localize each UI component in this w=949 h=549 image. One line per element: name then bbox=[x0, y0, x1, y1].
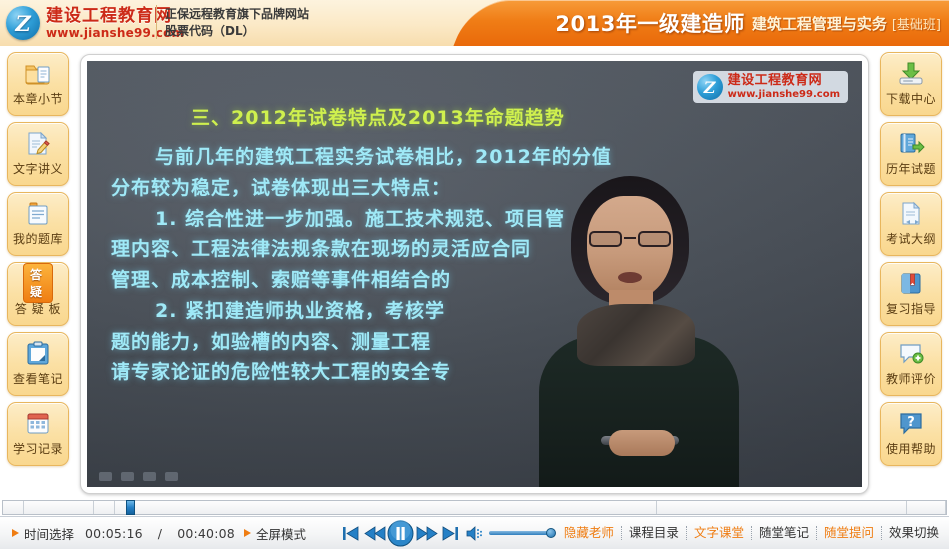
seek-segment[interactable] bbox=[3, 501, 24, 514]
text-classroom-button[interactable]: 文字课堂 bbox=[687, 526, 752, 540]
course-banner: 2013年一级建造师 建筑工程管理与实务 [基础班] bbox=[479, 0, 949, 46]
qa-badge-label: 答 疑 bbox=[23, 263, 53, 303]
sidebar-item-review-guide[interactable]: 复习指导 bbox=[880, 262, 942, 326]
sidebar-item-my-question-bank[interactable]: 我的题库 bbox=[7, 192, 69, 256]
sidebar-item-past-exams[interactable]: 历年试题 bbox=[880, 122, 942, 186]
sidebar-item-label: 历年试题 bbox=[886, 160, 936, 177]
seek-segment[interactable] bbox=[115, 501, 657, 514]
volume-slider-knob[interactable] bbox=[546, 528, 556, 538]
svg-text:?: ? bbox=[907, 415, 915, 430]
download-icon bbox=[896, 59, 926, 87]
next-track-button[interactable] bbox=[439, 521, 463, 545]
total-time: 00:40:08 bbox=[177, 526, 235, 541]
blackboard-tray bbox=[99, 472, 178, 481]
sidebar-item-download-center[interactable]: 下载中心 bbox=[880, 52, 942, 116]
calendar-icon bbox=[23, 409, 53, 437]
header-slogan-line1: 正保远程教育旗下品牌网站 bbox=[165, 6, 309, 23]
sidebar-item-text-lecture[interactable]: 文字讲义 bbox=[7, 122, 69, 186]
current-time: 00:05:16 bbox=[85, 526, 143, 541]
video-player[interactable]: 三、2012年试卷特点及2013年命题趋势 与前几年的建筑工程实务试卷相比，20… bbox=[87, 61, 862, 487]
doc-outline-icon bbox=[896, 199, 926, 227]
jianshe-z-logo-icon bbox=[6, 6, 40, 40]
sidebar-item-label: 查看笔记 bbox=[13, 370, 63, 387]
left-sidebar: 本章小节 文字讲义 我的题库 bbox=[1, 48, 75, 496]
time-separator: / bbox=[158, 526, 162, 541]
instructor-figure bbox=[517, 92, 757, 487]
tray-item-icon bbox=[165, 472, 178, 481]
seek-segment[interactable] bbox=[907, 501, 946, 514]
sidebar-item-label: 复习指导 bbox=[886, 300, 936, 317]
sidebar-item-view-notes[interactable]: 查看笔记 bbox=[7, 332, 69, 396]
book-arrow-icon bbox=[896, 129, 926, 157]
video-seek-bar[interactable] bbox=[2, 500, 947, 515]
jianshe-z-logo-icon bbox=[697, 74, 723, 100]
site-logo-name-cn: 建设工程教育网 bbox=[46, 8, 184, 25]
header-slogan-line2: 股票代码（DL） bbox=[165, 23, 309, 40]
sidebar-item-label: 使用帮助 bbox=[886, 440, 936, 457]
tray-chalk-icon bbox=[121, 472, 134, 481]
effect-switch-button[interactable]: 效果切换 bbox=[882, 526, 943, 540]
volume-slider[interactable] bbox=[489, 531, 553, 535]
sidebar-item-label: 考试大纲 bbox=[886, 230, 936, 247]
fullscreen-button[interactable]: 全屏模式 bbox=[256, 524, 306, 543]
watermark-url: www.jianshe99.com bbox=[728, 89, 840, 100]
sidebar-item-label: 答 疑 板 bbox=[15, 300, 61, 317]
tray-item-icon bbox=[143, 472, 156, 481]
instructor-glasses bbox=[587, 231, 673, 248]
volume-button[interactable] bbox=[463, 521, 487, 545]
time-select-button[interactable]: 时间选择 bbox=[24, 524, 74, 543]
clipboard-icon bbox=[23, 339, 53, 367]
sidebar-item-label: 下载中心 bbox=[886, 90, 936, 107]
header-divider bbox=[156, 5, 157, 39]
sidebar-item-help[interactable]: ? 使用帮助 bbox=[880, 402, 942, 466]
class-question-button[interactable]: 随堂提问 bbox=[817, 526, 882, 540]
sidebar-item-exam-syllabus[interactable]: 考试大纲 bbox=[880, 192, 942, 256]
book-bookmark-icon bbox=[896, 269, 926, 297]
page-header: 2013年一级建造师 建筑工程管理与实务 [基础班] 建设工程教育网 www.j… bbox=[0, 0, 949, 46]
seek-segment[interactable] bbox=[24, 501, 95, 514]
instructor-face bbox=[587, 196, 673, 300]
sidebar-item-label: 我的题库 bbox=[13, 230, 63, 247]
sidebar-item-qa-board[interactable]: 答 疑 答 疑 板 bbox=[7, 262, 69, 326]
seek-segment[interactable] bbox=[657, 501, 907, 514]
rewind-button[interactable] bbox=[363, 521, 387, 545]
banner-course-subject: 建筑工程管理与实务 bbox=[752, 13, 887, 34]
tray-eraser-icon bbox=[99, 472, 112, 481]
right-sidebar: 下载中心 历年试题 考试大纲 bbox=[874, 48, 948, 496]
pause-button[interactable] bbox=[387, 519, 415, 547]
sidebar-item-label: 本章小节 bbox=[13, 90, 63, 107]
sidebar-item-teacher-rating[interactable]: 教师评价 bbox=[880, 332, 942, 396]
course-player-window: 2013年一级建造师 建筑工程管理与实务 [基础班] 建设工程教育网 www.j… bbox=[0, 0, 949, 549]
fast-forward-button[interactable] bbox=[415, 521, 439, 545]
sidebar-item-chapter-summary[interactable]: 本章小节 bbox=[7, 52, 69, 116]
triangle-marker-icon bbox=[12, 529, 19, 537]
doc-pencil-icon bbox=[23, 129, 53, 157]
sidebar-item-label: 教师评价 bbox=[886, 370, 936, 387]
seek-playhead[interactable] bbox=[126, 500, 135, 515]
qa-badge-icon: 答 疑 bbox=[23, 269, 53, 297]
site-logo-url: www.jianshe99.com bbox=[46, 27, 184, 39]
comment-plus-icon bbox=[896, 339, 926, 367]
sidebar-item-study-record[interactable]: 学习记录 bbox=[7, 402, 69, 466]
notes-list-icon bbox=[23, 199, 53, 227]
banner-course-class-tag: [基础班] bbox=[892, 14, 941, 33]
instructor-hand bbox=[609, 430, 675, 456]
triangle-marker-icon bbox=[244, 529, 251, 537]
header-slogan: 正保远程教育旗下品牌网站 股票代码（DL） bbox=[165, 6, 309, 41]
course-catalog-button[interactable]: 课程目录 bbox=[622, 526, 687, 540]
sidebar-item-label: 学习记录 bbox=[13, 440, 63, 457]
class-notes-button[interactable]: 随堂笔记 bbox=[752, 526, 817, 540]
seek-segment[interactable] bbox=[94, 501, 115, 514]
player-control-bar: 时间选择 00:05:16 / 00:40:08 全屏模式 bbox=[0, 516, 949, 549]
hide-teacher-button[interactable]: 隐藏老师 bbox=[557, 526, 622, 540]
folder-doc-icon bbox=[23, 59, 53, 87]
instructor-scarf bbox=[577, 304, 695, 366]
video-watermark: 建设工程教育网 www.jianshe99.com bbox=[693, 71, 848, 103]
instructor-mouth bbox=[618, 272, 642, 283]
banner-course-year-title: 2013年一级建造师 bbox=[555, 8, 744, 38]
site-logo[interactable]: 建设工程教育网 www.jianshe99.com bbox=[6, 2, 184, 44]
sidebar-item-label: 文字讲义 bbox=[13, 160, 63, 177]
watermark-name-cn: 建设工程教育网 bbox=[728, 74, 840, 88]
video-stage: 三、2012年试卷特点及2013年命题趋势 与前几年的建筑工程实务试卷相比，20… bbox=[80, 54, 869, 494]
help-bubble-icon: ? bbox=[896, 409, 926, 437]
prev-track-button[interactable] bbox=[339, 521, 363, 545]
